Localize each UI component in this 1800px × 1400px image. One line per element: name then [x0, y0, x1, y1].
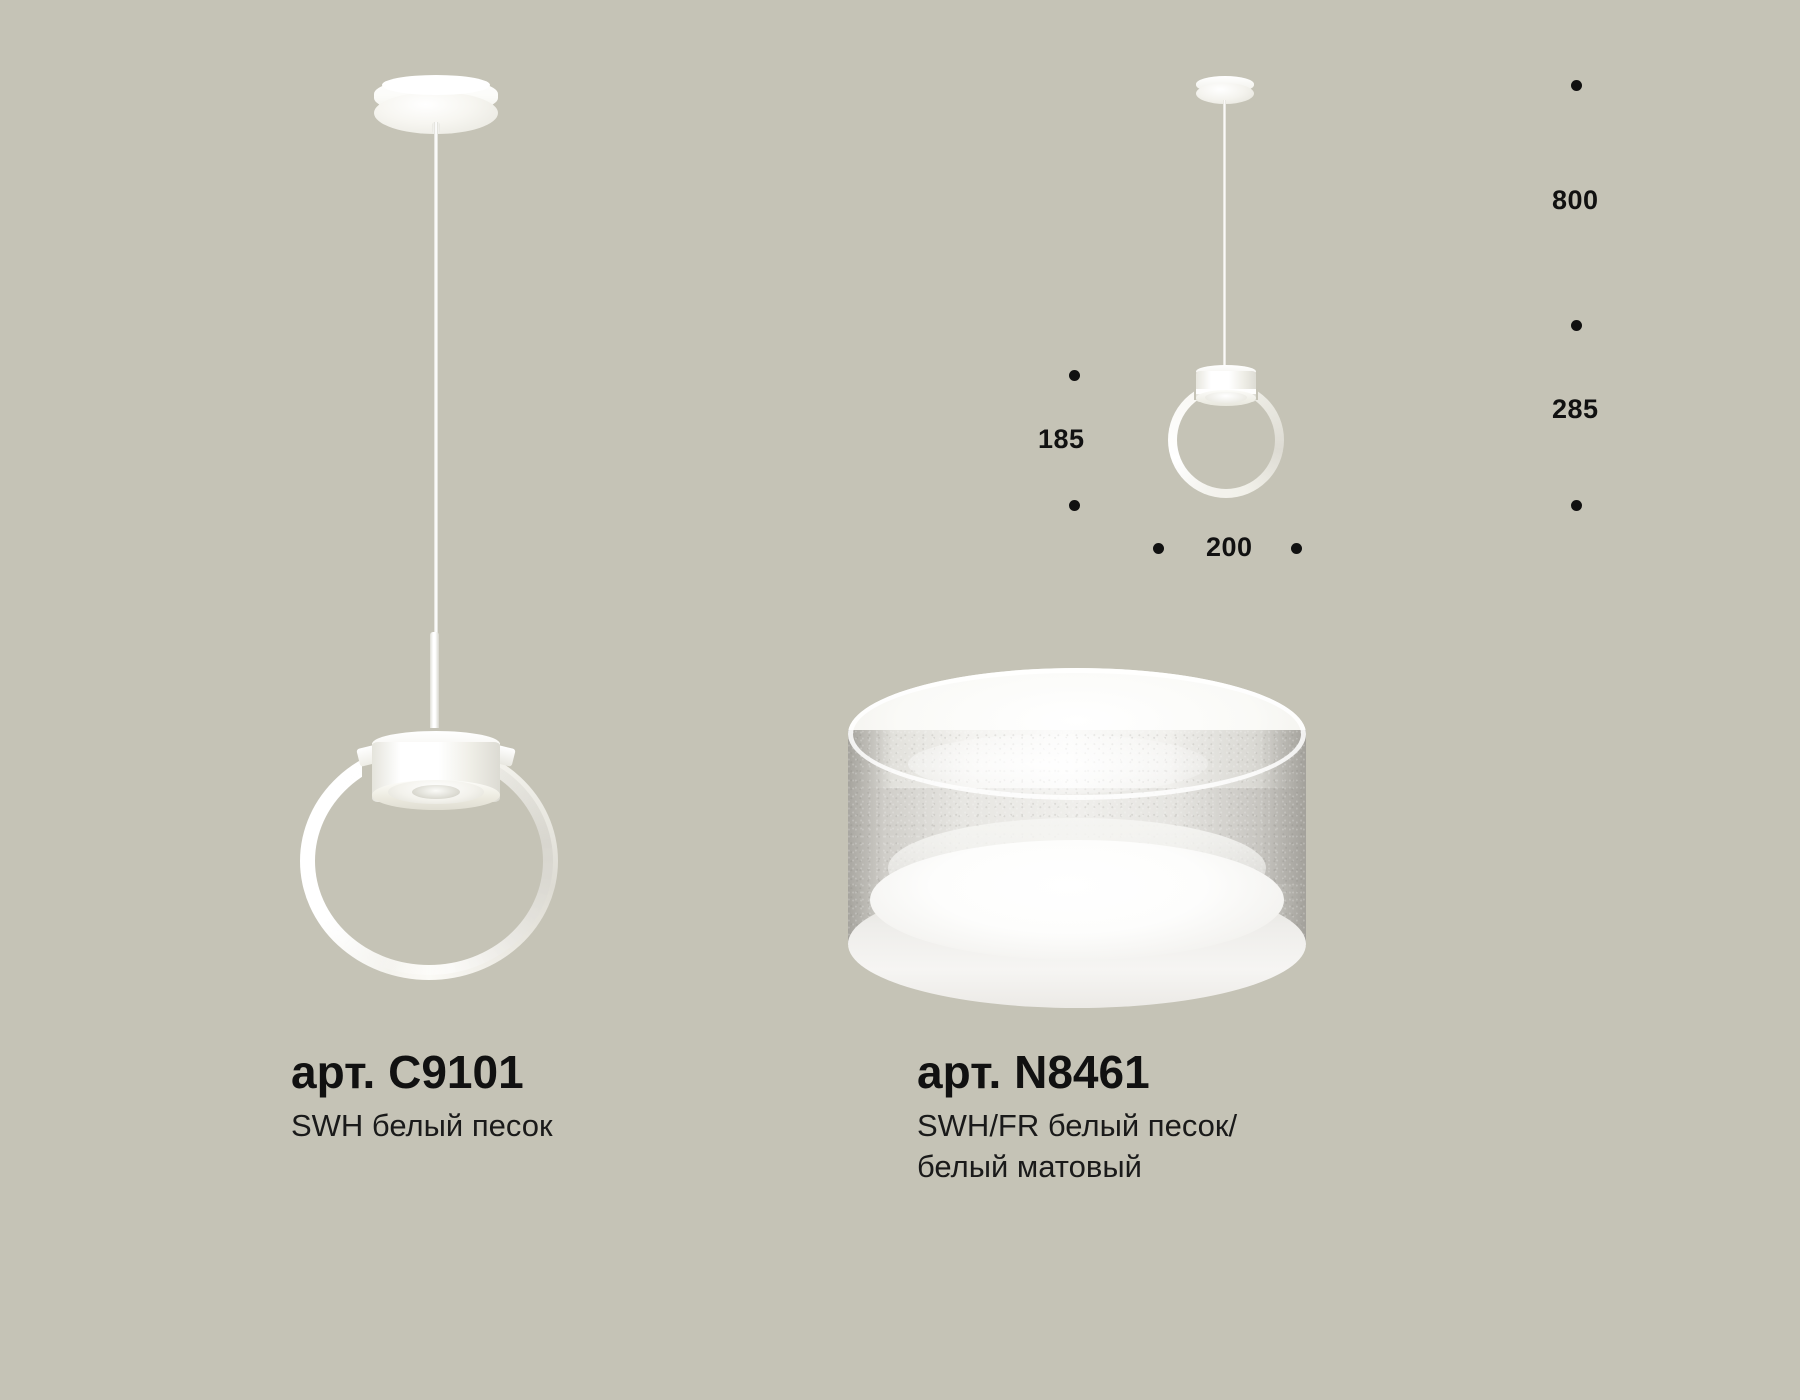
- canopy-top-cap: [382, 75, 490, 95]
- dim-dot-185-top: [1069, 370, 1080, 381]
- finish-description-n8461: SWH/FR белый песок/ белый матовый: [917, 1106, 1237, 1187]
- dim-label-200: 200: [1206, 532, 1253, 563]
- shade-gloss-highlight: [908, 734, 1208, 794]
- suspension-rod: [430, 632, 439, 742]
- diagram-suspension-cable: [1223, 100, 1226, 368]
- dim-dot-185-bottom: [1069, 500, 1080, 511]
- product-spec-sheet: 800 285 185 200 арт. C9101 SWH белый пес…: [0, 0, 1800, 1400]
- article-number-c9101: арт. C9101: [291, 1048, 553, 1096]
- dim-dot-200-left: [1153, 543, 1164, 554]
- led-emitter: [412, 785, 460, 799]
- caption-c9101: арт. C9101 SWH белый песок: [291, 1048, 553, 1147]
- dimension-diagram: [1000, 40, 1560, 660]
- product-render-c9101: [0, 0, 880, 1060]
- article-number-n8461: арт. N8461: [917, 1048, 1237, 1096]
- dim-dot-200-right: [1291, 543, 1302, 554]
- shade-diffuser: [870, 840, 1284, 960]
- lamp-head: [372, 740, 500, 818]
- diagram-lamp-head: [1196, 370, 1256, 412]
- dim-dot-285-bottom: [1571, 500, 1582, 511]
- dim-label-285: 285: [1552, 394, 1599, 425]
- dim-label-185: 185: [1038, 424, 1085, 455]
- dim-dot-800-bottom: [1571, 320, 1582, 331]
- caption-n8461: арт. N8461 SWH/FR белый песок/ белый мат…: [917, 1048, 1237, 1187]
- diagram-head-reflector: [1205, 392, 1247, 403]
- dim-dot-800-top: [1571, 80, 1582, 91]
- product-render-n8461: [848, 668, 1306, 1008]
- suspension-cable: [434, 122, 438, 642]
- finish-description-c9101: SWH белый песок: [291, 1106, 553, 1146]
- dim-label-800: 800: [1552, 185, 1599, 216]
